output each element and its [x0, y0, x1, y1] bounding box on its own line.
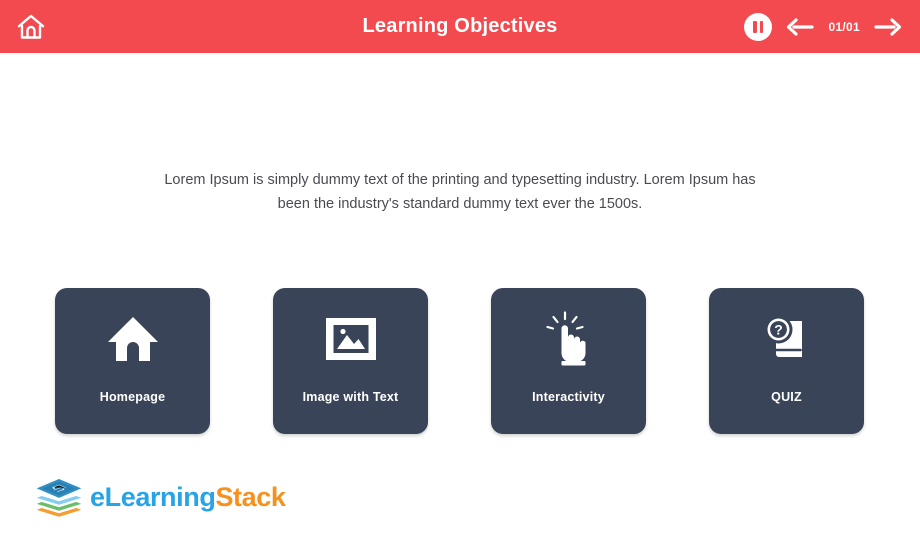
card-interactivity-icon-wrap: [491, 308, 646, 370]
menu-card-grid: Homepage Image with Text: [55, 288, 865, 434]
previous-slide-button[interactable]: [786, 17, 814, 37]
brand-logo-text: eLearningStack: [90, 482, 286, 513]
pause-button[interactable]: [744, 13, 772, 41]
image-picture-icon: [325, 317, 377, 361]
next-slide-button[interactable]: [874, 17, 902, 37]
click-hand-icon: [546, 311, 592, 367]
lead-paragraph: Lorem Ipsum is simply dummy text of the …: [150, 168, 770, 216]
card-quiz-icon-wrap: ?: [709, 308, 864, 370]
pause-icon: [753, 21, 757, 33]
card-interactivity-label: Interactivity: [491, 390, 646, 404]
arrow-left-icon: [786, 17, 814, 37]
card-homepage-icon-wrap: [55, 308, 210, 370]
svg-text:?: ?: [774, 322, 783, 338]
slide-counter: 01/01: [828, 20, 860, 34]
brand-name-secondary: Stack: [215, 482, 285, 512]
stacked-layers-logo-icon: [35, 475, 83, 519]
brand-name-primary: eLearning: [90, 482, 215, 512]
arrow-right-icon: [874, 17, 902, 37]
top-header-bar: Learning Objectives 01/01: [0, 0, 920, 53]
brand-logo: eLearningStack: [35, 473, 286, 521]
card-image-label: Image with Text: [273, 390, 428, 404]
book-question-icon: ?: [762, 313, 812, 365]
slide-stage: Learning Objectives 01/01 Lorem: [0, 0, 920, 540]
card-homepage-label: Homepage: [55, 390, 210, 404]
card-image-with-text[interactable]: Image with Text: [273, 288, 428, 434]
card-interactivity[interactable]: Interactivity: [491, 288, 646, 434]
card-quiz-label: QUIZ: [709, 390, 864, 404]
card-homepage[interactable]: Homepage: [55, 288, 210, 434]
home-solid-icon: [106, 314, 160, 364]
card-image-icon-wrap: [273, 308, 428, 370]
pause-icon-bar-2: [760, 21, 764, 33]
card-quiz[interactable]: ? QUIZ: [709, 288, 864, 434]
header-controls: 01/01: [744, 0, 902, 53]
